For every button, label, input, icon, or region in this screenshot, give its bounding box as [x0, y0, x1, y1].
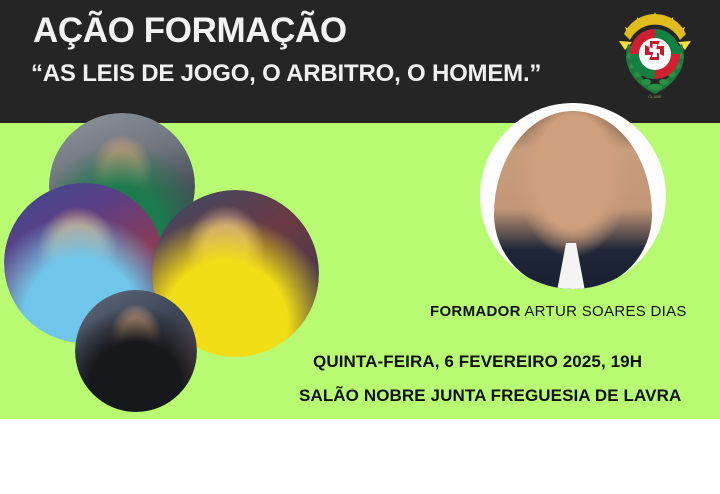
referee-photo-black-kit — [75, 290, 197, 412]
svg-text:CLUBE: CLUBE — [648, 94, 662, 99]
event-venue: SALÃO NOBRE JUNTA FREGUESIA DE LAVRA — [299, 386, 681, 406]
speaker-portrait-artur-soares-dias — [480, 103, 666, 289]
page-title: AÇÃO FORMAÇÃO — [33, 11, 347, 51]
sponsor-footer: CERTIFICADA ENTIDADE FORMADORA ★ ★ ★ FPF — [0, 419, 720, 494]
page-subtitle: “AS LEIS DE JOGO, O ARBITRO, O HOMEM.” — [31, 59, 541, 89]
trainer-label: FORMADOR — [430, 303, 521, 320]
event-date: QUINTA-FEIRA, 6 FEVEREIRO 2025, 19H — [313, 352, 642, 372]
poster: AÇÃO FORMAÇÃO “AS LEIS DE JOGO, O ARBITR… — [0, 0, 720, 494]
club-crest-icon: CLUBE — [612, 8, 698, 102]
trainer-name: ARTUR SOARES DIAS — [524, 303, 686, 320]
trainer-line: FORMADOR ARTUR SOARES DIAS — [430, 303, 687, 320]
poster-header: AÇÃO FORMAÇÃO “AS LEIS DE JOGO, O ARBITR… — [0, 0, 720, 123]
